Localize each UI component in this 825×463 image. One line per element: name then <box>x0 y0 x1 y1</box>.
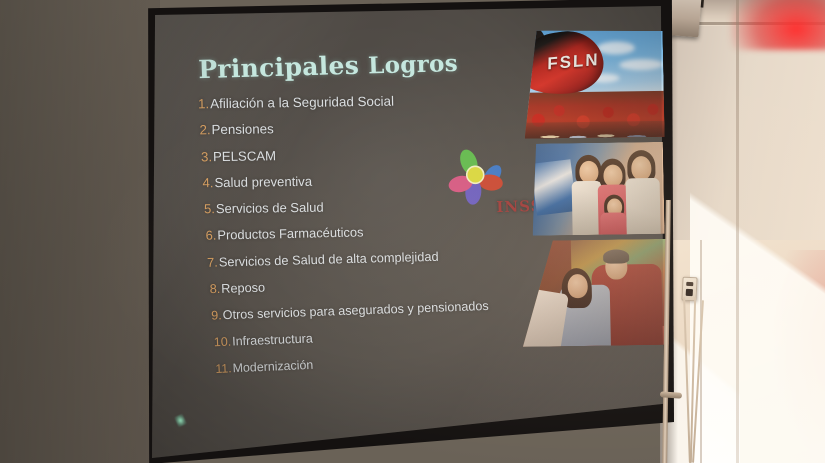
photo-collage: FSLN <box>513 29 670 361</box>
warm-overlay <box>531 142 665 236</box>
list-item-label: Servicios de Salud de alta complejidad <box>219 249 439 270</box>
family-photo <box>531 142 665 236</box>
list-item-number: 3. <box>201 149 212 164</box>
wall-seam <box>736 0 739 463</box>
list-item-label: Productos Farmacéuticos <box>217 224 364 242</box>
list-item-number: 5. <box>204 201 215 216</box>
warm-overlay <box>521 239 669 347</box>
red-ceiling-light-glow <box>730 0 825 50</box>
list-item-number: 10. <box>214 335 232 350</box>
list-item-label: Infraestructura <box>232 331 313 348</box>
list-item-label: Servicios de Salud <box>216 200 324 217</box>
list-item-label: Pensiones <box>211 122 273 138</box>
slide-title-word1: Principales <box>198 51 360 84</box>
list-item-number: 9. <box>211 309 222 323</box>
list-item-number: 7. <box>207 254 218 269</box>
crowd-foreground <box>524 121 664 139</box>
room-photo-scene: Principales Logros 1.Afiliación a la Seg… <box>0 0 825 463</box>
list-item-number: 4. <box>202 175 213 190</box>
list-item-label: Modernización <box>232 357 313 374</box>
list-item-number: 1. <box>198 96 209 111</box>
list-item-number: 2. <box>199 123 210 138</box>
list-item-label: Salud preventiva <box>214 174 312 190</box>
list-item-label: PELSCAM <box>213 148 276 164</box>
list-item-number: 11. <box>215 361 232 376</box>
list-item-number: 8. <box>209 282 220 296</box>
outlet-slot-bottom <box>686 289 693 296</box>
list-item-number: 6. <box>205 228 216 243</box>
list-item-label: Afiliación a la Seguridad Social <box>210 94 394 112</box>
left-wall <box>0 0 160 463</box>
slide-title: Principales Logros <box>198 48 459 84</box>
slide-title-word2: Logros <box>368 50 459 79</box>
list-item-label: Reposo <box>221 280 265 295</box>
outlet-slot-top <box>686 282 693 286</box>
list-item-label: Otros servicios para asegurados y pensio… <box>222 299 488 322</box>
fsln-rally-photo: FSLN <box>523 29 665 139</box>
presentation-slide: Principales Logros 1.Afiliación a la Seg… <box>152 0 673 458</box>
embrace-photo <box>521 239 669 347</box>
